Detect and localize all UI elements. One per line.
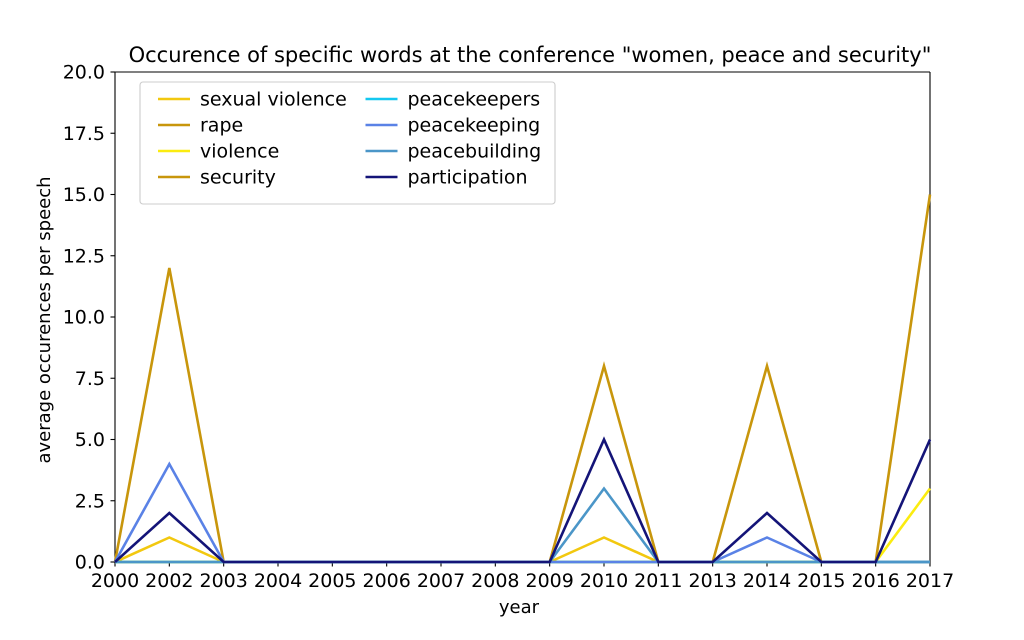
x-tick-label: 2010 [580,570,628,592]
legend-label-peacebuilding: peacebuilding [408,141,542,163]
x-tick-label: 2011 [634,570,682,592]
x-tick-label: 2002 [145,570,193,592]
x-tick-label: 2005 [308,570,356,592]
legend-label-peacekeeping: peacekeeping [408,115,541,137]
y-tick-label: 7.5 [75,368,105,390]
x-axis-label: year [499,597,540,618]
x-tick-label: 2003 [199,570,247,592]
x-tick-label: 2007 [417,570,465,592]
x-tick-label: 2015 [797,570,845,592]
y-tick-label: 12.5 [63,245,105,267]
y-tick-label: 5.0 [75,429,105,451]
x-tick-label: 2004 [254,570,302,592]
legend-label-rape: rape [200,115,243,137]
x-tick-label: 2008 [471,570,519,592]
legend-label-violence: violence [200,141,279,163]
x-tick-label: 2014 [743,570,791,592]
x-tick-label: 2009 [525,570,573,592]
x-tick-label: 2017 [906,570,954,592]
legend-label-participation: participation [408,167,528,189]
legend-label-sexual-violence: sexual violence [200,89,347,111]
y-tick-label: 15.0 [63,184,105,206]
x-tick-label: 2000 [91,570,139,592]
y-tick-label: 10.0 [63,307,105,329]
x-tick-label: 2006 [362,570,410,592]
legend-label-security: security [200,167,276,189]
chart-legend: sexual violencerapeviolencesecuritypeace… [140,82,555,204]
y-tick-label: 2.5 [75,490,105,512]
line-chart: Occurence of specific words at the confe… [0,0,1024,640]
chart-figure: Occurence of specific words at the confe… [0,0,1024,640]
chart-title: Occurence of specific words at the confe… [129,43,932,67]
y-tick-label: 17.5 [63,123,105,145]
x-tick-label: 2013 [688,570,736,592]
y-axis-label: average occurences per speech [34,176,55,463]
y-tick-label: 20.0 [63,62,105,84]
x-tick-label: 2016 [851,570,899,592]
legend-label-peacekeepers: peacekeepers [408,89,541,111]
